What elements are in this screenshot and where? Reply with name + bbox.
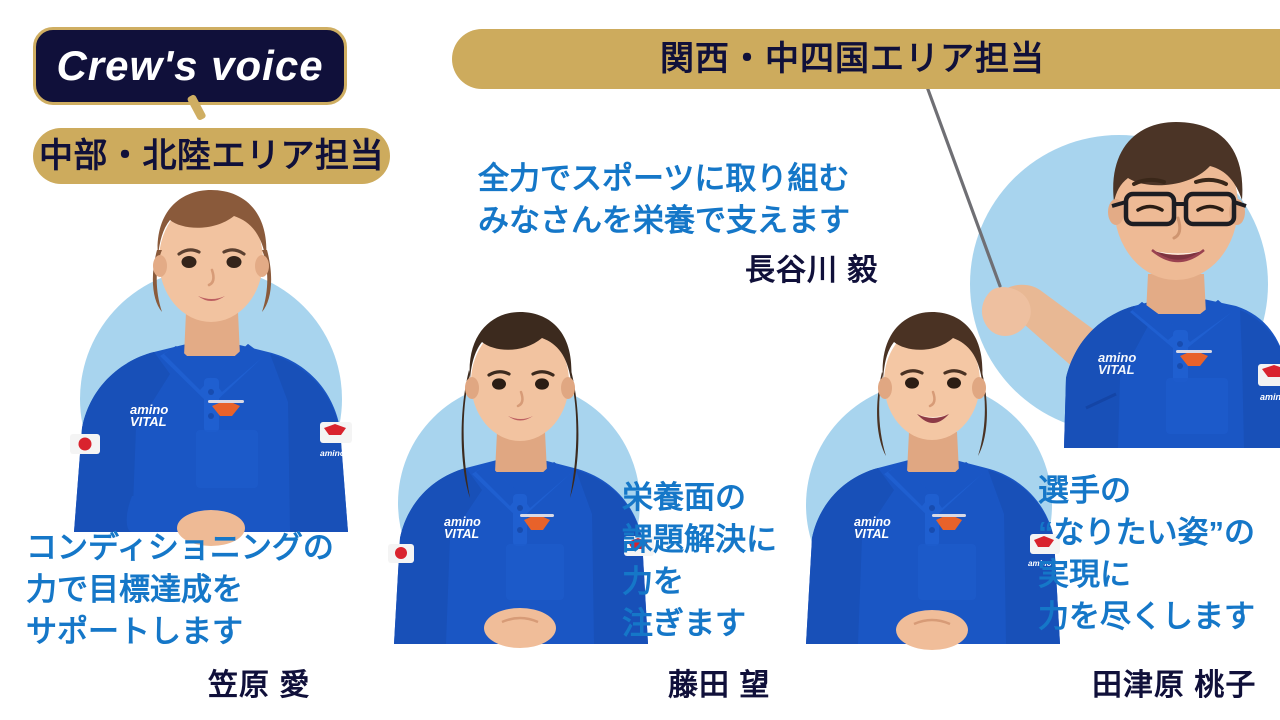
shirt-logo-aminovital: amino VITAL — [130, 402, 168, 429]
sleeve-patch-left — [70, 434, 100, 454]
crew-voice-poster: amino VITAL aminoVITAL — [0, 0, 1280, 720]
area-badge-chubu: 中部・北陸エリア担当 — [33, 128, 390, 184]
sleeve-patch-right: aminoVITAL — [320, 422, 369, 458]
illustration-kasahara: amino VITAL aminoVITAL — [58, 196, 364, 532]
illustration-tazuhara: amino VITAL aminoVITAL — [788, 320, 1074, 644]
svg-text:VITAL: VITAL — [854, 527, 889, 541]
svg-text:VITAL: VITAL — [130, 414, 167, 429]
crew-voice-badge: Crew's voice — [33, 27, 347, 105]
name-tazuhara: 田津原 桃子 — [1092, 671, 1256, 701]
name-kasahara: 笠原 愛 — [208, 671, 310, 701]
name-hasegawa: 長谷川 毅 — [745, 256, 878, 286]
pointer-stick — [926, 84, 1000, 286]
svg-text:VITAL: VITAL — [444, 527, 479, 541]
quote-kasahara: コンディショニングの 力で目標達成を サポートします — [26, 527, 334, 653]
shirt-logo-aminovital: amino VITAL — [444, 515, 481, 541]
svg-text:aminoVITAL: aminoVITAL — [320, 448, 369, 458]
sleeve-patch-right: aminoVITAL — [1258, 364, 1280, 402]
sleeve-patch-left — [388, 544, 414, 563]
name-fujita: 藤田 望 — [668, 671, 770, 701]
svg-text:VITAL: VITAL — [1098, 362, 1135, 377]
illustration-fujita: amino VITAL — [378, 322, 662, 644]
area-badge-kansai-label: 関西・中四国エリア担当 — [660, 42, 1045, 76]
quote-hasegawa: 全力でスポーツに取り組む みなさんを栄養で支えます — [478, 158, 850, 242]
crew-voice-label: Crew's voice — [56, 45, 323, 87]
area-badge-kansai: 関西・中四国エリア担当 — [452, 29, 1280, 89]
quote-tazuhara: 選手の “なりたい姿”の 実現に 力を尽くします — [1038, 470, 1255, 638]
quote-fujita: 栄養面の 課題解決に 力を 注ぎます — [622, 477, 777, 645]
area-badge-chubu-label: 中部・北陸エリア担当 — [39, 139, 384, 173]
svg-text:aminoVITAL: aminoVITAL — [1260, 392, 1280, 402]
shirt-logo-aminovital: amino VITAL — [1098, 350, 1136, 377]
shirt-logo-aminovital: amino VITAL — [854, 515, 891, 541]
